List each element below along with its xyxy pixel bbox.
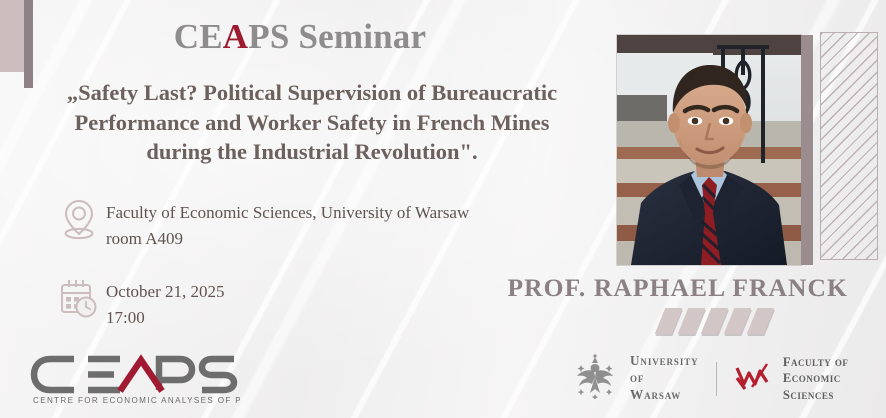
- faculty-economic-sciences-zigzag-icon: [734, 360, 774, 397]
- location-line-2: room A409: [106, 226, 469, 252]
- seminar-heading-prefix: CE: [174, 17, 223, 56]
- seminar-poster: CEAPS Seminar „Safety Last? Political Su…: [0, 0, 886, 418]
- map-pin-icon: [52, 196, 106, 240]
- calendar-clock-icon: [52, 275, 106, 319]
- faculty-wordmark: Faculty of Economic Sciences: [783, 354, 886, 403]
- seminar-heading: CEAPS Seminar: [0, 17, 600, 57]
- event-time: 17:00: [106, 305, 225, 331]
- location-text: Faculty of Economic Sciences, University…: [106, 196, 469, 253]
- university-line-1: University: [630, 353, 699, 370]
- decorative-hatched-rectangle: [820, 32, 878, 260]
- location-line-1: Faculty of Economic Sciences, University…: [106, 200, 469, 226]
- seminar-heading-accent-letter: A: [223, 17, 248, 56]
- speaker-photo: [617, 35, 801, 265]
- speaker-accent-slashes: [660, 308, 790, 334]
- datetime-row: October 21, 2025 17:00: [52, 275, 469, 332]
- talk-title-line-1: „Safety Last? Political Supervision of B…: [22, 78, 602, 108]
- university-of-warsaw-eagle-emblem: [572, 353, 618, 404]
- event-date: October 21, 2025: [106, 279, 225, 305]
- talk-title: „Safety Last? Political Supervision of B…: [22, 78, 602, 167]
- talk-title-line-2: Performance and Worker Safety in French …: [22, 108, 602, 138]
- faculty-line-2: Economic Sciences: [783, 370, 886, 403]
- photo-accent-bar: [800, 35, 813, 265]
- accent-slash: [747, 308, 775, 334]
- ceaps-logo: CENTRE FOR ECONOMIC ANALYSES OF PUBLIC S…: [28, 350, 240, 411]
- faculty-line-1: Faculty of: [783, 354, 886, 370]
- location-row: Faculty of Economic Sciences, University…: [52, 196, 469, 253]
- university-wordmark: University of Warsaw: [630, 353, 699, 404]
- partner-logos: University of Warsaw Faculty of Economic…: [572, 353, 886, 404]
- datetime-text: October 21, 2025 17:00: [106, 275, 225, 332]
- event-details: Faculty of Economic Sciences, University…: [52, 196, 469, 353]
- talk-title-line-3: during the Industrial Revolution".: [22, 137, 602, 167]
- seminar-heading-suffix: PS Seminar: [248, 17, 426, 56]
- svg-text:CENTRE FOR ECONOMIC ANALYSES O: CENTRE FOR ECONOMIC ANALYSES OF PUBLIC S…: [33, 396, 240, 405]
- logo-divider: [716, 362, 717, 396]
- speaker-name: PROF. RAPHAEL FRANCK: [507, 273, 848, 303]
- university-line-2: of Warsaw: [630, 370, 699, 404]
